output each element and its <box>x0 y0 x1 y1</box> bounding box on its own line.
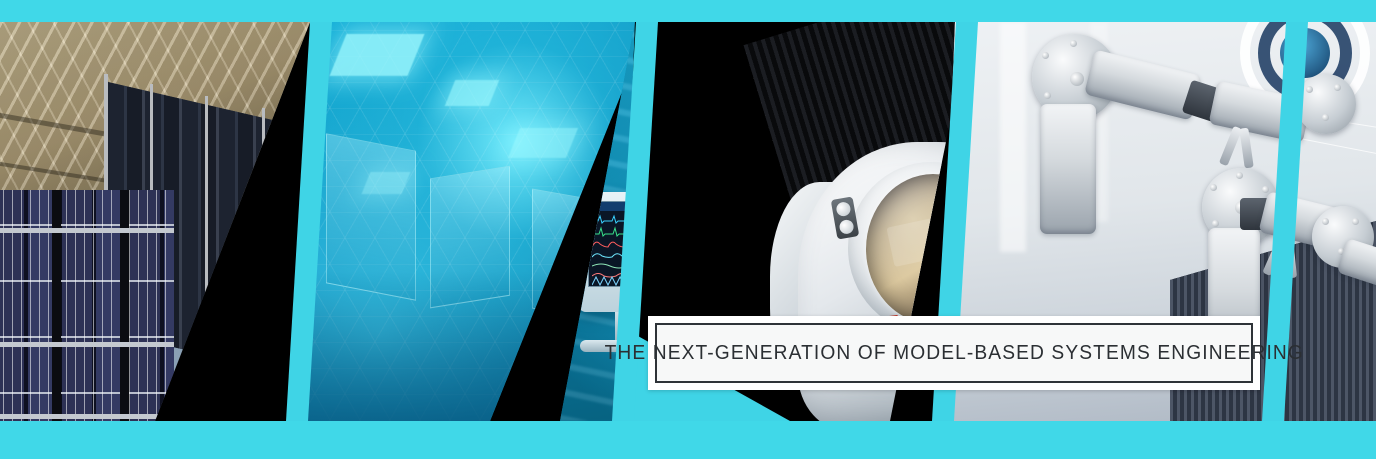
panel-gap <box>52 190 61 421</box>
hero-banner: THE NEXT-GENERATION OF MODEL-BASED SYSTE… <box>0 0 1376 459</box>
robot-upper-link <box>1040 104 1096 234</box>
glow-panel <box>508 128 578 158</box>
glass-mullion <box>262 108 265 421</box>
panel-rail <box>0 342 174 347</box>
panel-rail <box>0 228 174 233</box>
panel-solar-station <box>0 22 330 421</box>
light-streak <box>1000 22 1026 252</box>
headline-plaque-inner-frame: THE NEXT-GENERATION OF MODEL-BASED SYSTE… <box>655 323 1253 383</box>
robot-wrist-joint <box>1296 74 1356 134</box>
panel-rail <box>0 414 174 419</box>
headline-plaque: THE NEXT-GENERATION OF MODEL-BASED SYSTE… <box>648 316 1260 390</box>
panel-gap <box>120 190 129 421</box>
solar-panel-array <box>0 190 174 421</box>
glass-mullion <box>205 96 208 416</box>
page-title: THE NEXT-GENERATION OF MODEL-BASED SYSTE… <box>604 342 1303 365</box>
top-accent-band <box>0 0 1376 22</box>
bottom-accent-band <box>0 421 1376 459</box>
visor-reflection <box>886 217 945 267</box>
